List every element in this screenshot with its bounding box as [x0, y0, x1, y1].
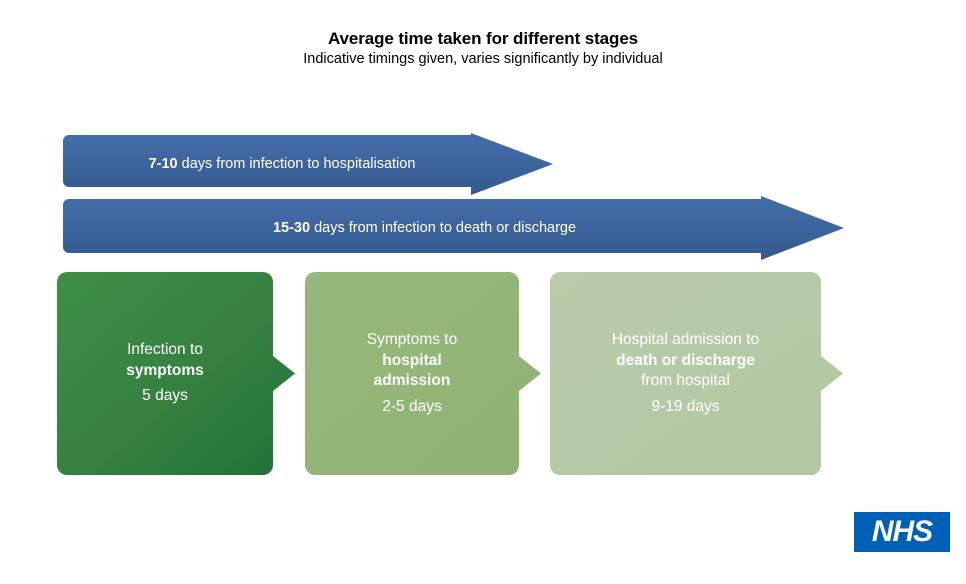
nhs-logo-text: NHS [872, 517, 932, 547]
page-title: Average time taken for different stages [0, 28, 966, 49]
stage-box-hospital-admission-to-death-or-discharge: Hospital admission to death or discharge… [550, 272, 821, 475]
arrow-right-icon [57, 133, 553, 195]
page-subtitle: Indicative timings given, varies signifi… [0, 50, 966, 69]
nhs-logo: NHS [854, 512, 950, 552]
stage-box-symptoms-to-hospital-admission: Symptoms to hospital admission 2-5 days [305, 272, 519, 475]
timeline-arrow-infection-to-hospitalisation: 7-10 days from infection to hospitalisat… [57, 133, 553, 195]
arrow-right-icon [57, 196, 844, 260]
stage-box-infection-to-symptoms: Infection to symptoms 5 days [57, 272, 273, 475]
stage-shape-chevron [305, 272, 519, 475]
stage-shape-chevron [550, 272, 821, 475]
header: Average time taken for different stages … [0, 28, 966, 69]
stage-shape-chevron [57, 272, 273, 475]
timeline-arrow-infection-to-death-or-discharge: 15-30 days from infection to death or di… [57, 196, 844, 260]
